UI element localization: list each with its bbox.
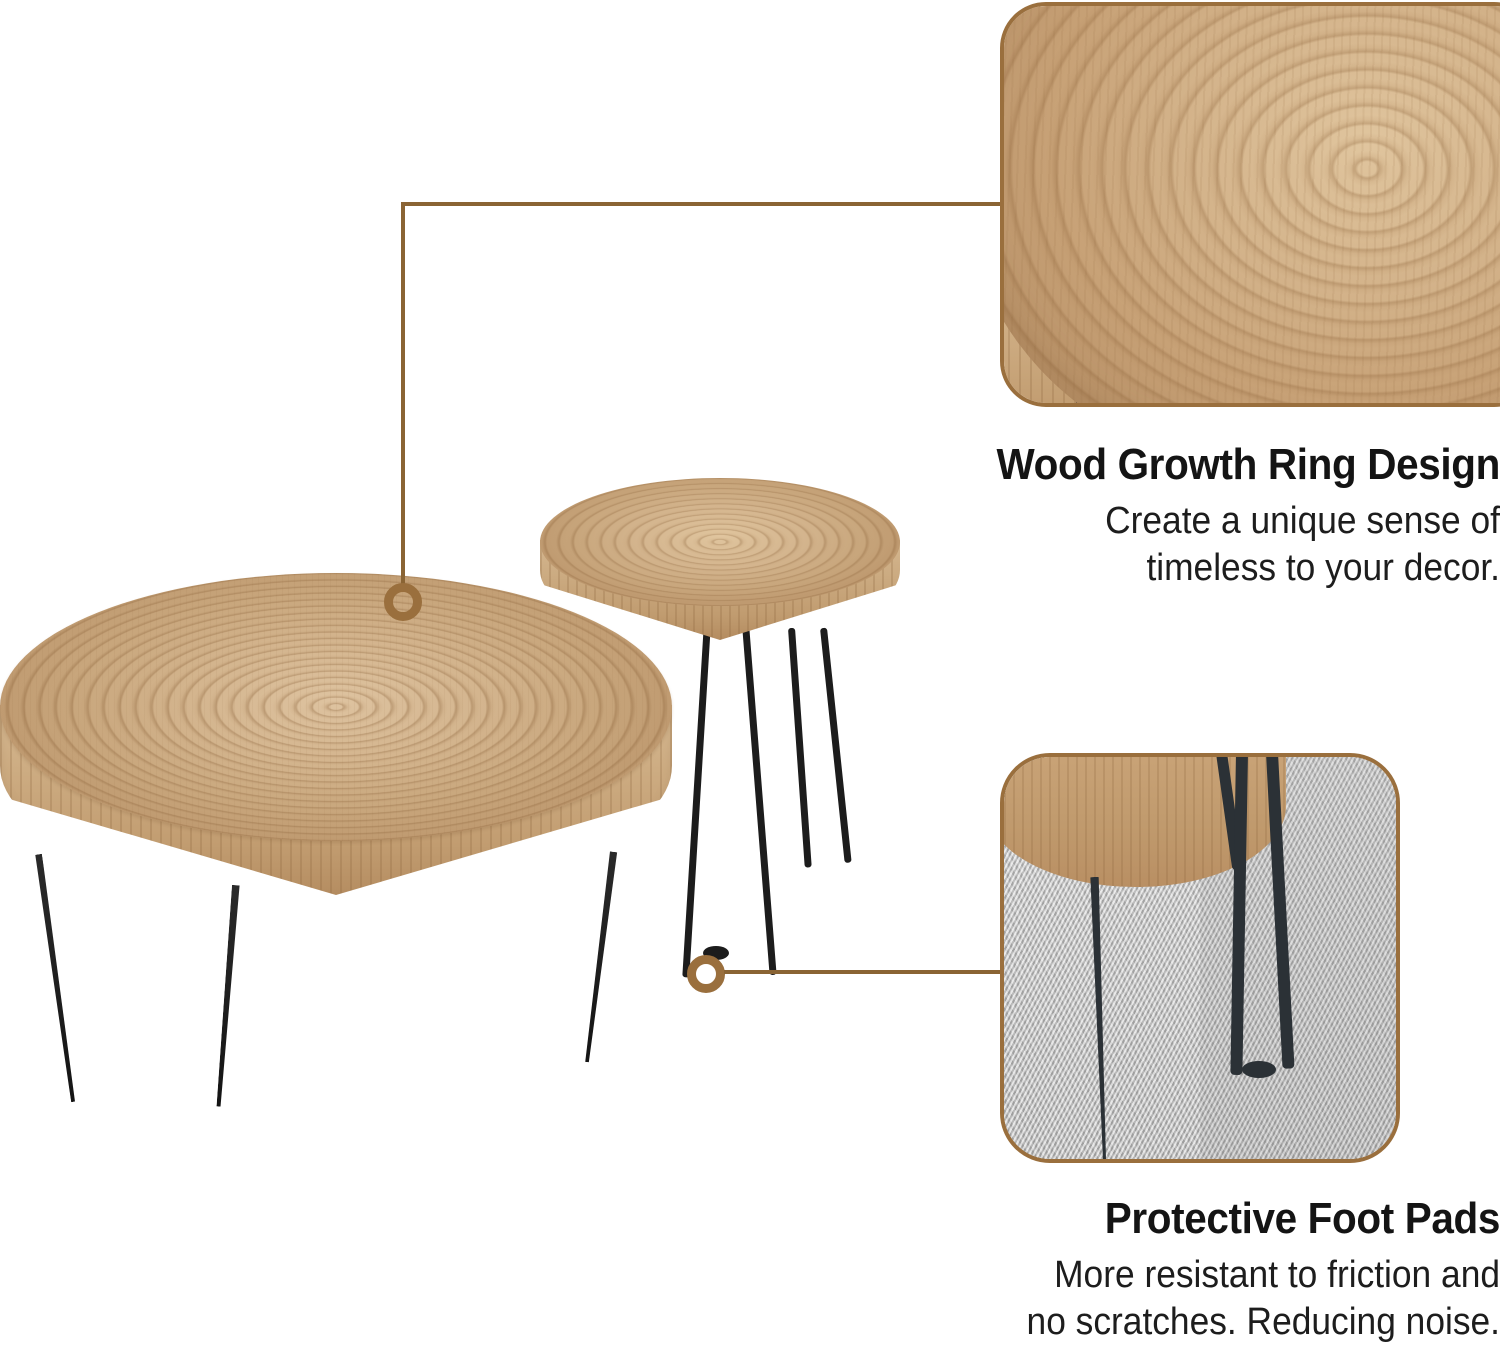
small-table-top-surface bbox=[540, 478, 900, 606]
small-table-leg-front-left bbox=[682, 622, 711, 978]
feature-1-body: Create a unique sense of timeless to you… bbox=[942, 498, 1500, 592]
feature-1-heading: Wood Growth Ring Design bbox=[948, 442, 1500, 489]
inset-protective-foot-pad bbox=[1242, 1061, 1276, 1078]
feature-2-body-line-2: no scratches. Reducing noise. bbox=[942, 1299, 1500, 1346]
inset-foot-pads-photo bbox=[1000, 753, 1400, 1163]
feature-2-heading: Protective Foot Pads bbox=[948, 1196, 1500, 1243]
callout-marker-table-top bbox=[384, 583, 422, 621]
small-table-leg-back-left bbox=[788, 628, 812, 868]
callout-marker-foot-pad bbox=[687, 955, 725, 993]
feature-1-body-line-2: timeless to your decor. bbox=[942, 545, 1500, 592]
feature-1-body-line-1: Create a unique sense of bbox=[942, 498, 1500, 545]
large-table-leg-left bbox=[26, 854, 81, 1103]
feature-2-body-line-1: More resistant to friction and bbox=[942, 1252, 1500, 1299]
small-table-leg-front-right bbox=[742, 624, 777, 975]
callout-line-horizontal-bottom bbox=[724, 970, 1004, 974]
callout-line-horizontal-top bbox=[403, 202, 1003, 206]
large-table-leg-right bbox=[580, 851, 624, 1064]
small-table-leg-back-right bbox=[820, 628, 852, 863]
product-feature-infographic: Wood Growth Ring Design Create a unique … bbox=[0, 0, 1500, 1360]
inset-wood-growth-ring-photo bbox=[1000, 2, 1500, 407]
inset-wood-ring-surface bbox=[1000, 2, 1500, 407]
callout-line-vertical-top bbox=[401, 202, 405, 592]
feature-2-body: More resistant to friction and no scratc… bbox=[942, 1252, 1500, 1346]
large-table-leg-center bbox=[209, 884, 244, 1107]
large-table-top-surface bbox=[0, 573, 672, 841]
